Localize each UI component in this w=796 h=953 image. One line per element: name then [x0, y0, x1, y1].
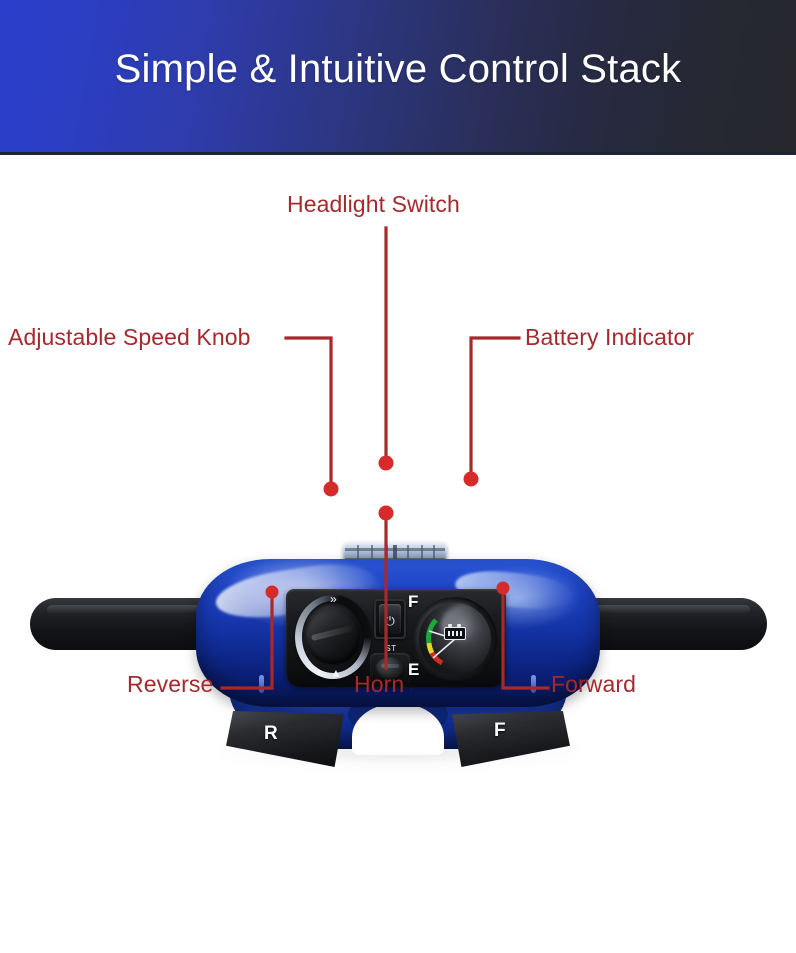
callout-label-battery: Battery Indicator: [525, 326, 694, 349]
st-marking-label: ST: [370, 644, 412, 653]
tortoise-icon: ▲: [330, 667, 342, 679]
lever-label-reverse: R: [264, 723, 278, 745]
rabbit-icon: »: [330, 593, 337, 605]
gauge-empty-mark: E: [408, 660, 419, 680]
throttle-lever-forward[interactable]: [452, 711, 570, 767]
power-icon: ⏻: [383, 614, 397, 628]
gauge-full-mark: F: [408, 592, 418, 612]
callout-label-speed-knob: Adjustable Speed Knob: [8, 326, 251, 349]
callout-label-reverse: Reverse: [127, 673, 213, 696]
header-banner: Simple & Intuitive Control Stack: [0, 0, 796, 152]
page-title: Simple & Intuitive Control Stack: [0, 47, 796, 92]
shell-side-tab-right: [531, 675, 536, 693]
throttle-lever-reverse[interactable]: [226, 711, 344, 767]
lever-label-forward: F: [494, 720, 506, 742]
product-illustration: R F » ▲ ⏻ ST: [0, 155, 796, 953]
battery-icon: [444, 627, 466, 640]
product-stage: R F » ▲ ⏻ ST: [0, 155, 796, 798]
callout-label-horn: Horn: [354, 673, 404, 696]
shell-side-tab-left: [259, 675, 264, 693]
callout-label-forward: Forward: [551, 673, 636, 696]
callout-label-headlight: Headlight Switch: [287, 193, 460, 216]
